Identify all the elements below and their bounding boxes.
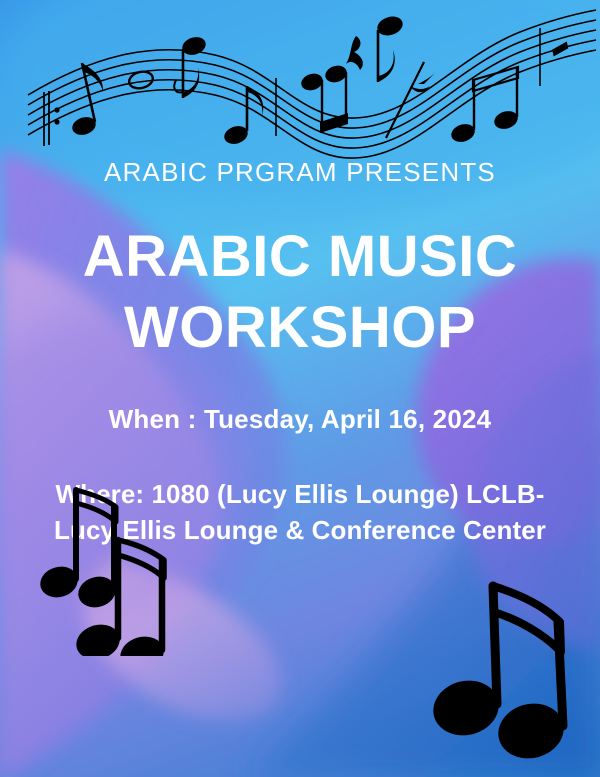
poster-canvas: ARABIC PRGRAM PRESENTS ARABIC MUSIC WORK…	[0, 0, 600, 777]
presenter-caption: ARABIC PRGRAM PRESENTS	[0, 157, 600, 188]
beamed-pair-2	[449, 67, 520, 145]
page-title: ARABIC MUSIC WORKSHOP	[0, 222, 600, 364]
eighth-note-pair-upper	[37, 490, 120, 612]
slash-mark	[386, 62, 424, 138]
double-eighth-note-icon	[34, 466, 184, 656]
beamed-pair-1	[299, 63, 349, 133]
music-staff-icon	[0, 0, 600, 160]
eighth-note-4	[375, 13, 405, 82]
rest-mark-1	[346, 36, 363, 70]
event-date-line: When : Tuesday, April 16, 2024	[0, 404, 600, 435]
beamed-eighth-note-icon	[424, 568, 584, 768]
rest-mark-2	[418, 72, 436, 84]
eighth-note-2	[174, 34, 208, 98]
flag-mark-right	[551, 41, 569, 56]
rest-mark-3	[410, 86, 430, 92]
title-line-1: ARABIC MUSIC	[0, 222, 600, 293]
title-line-2: WORKSHOP	[0, 293, 600, 364]
